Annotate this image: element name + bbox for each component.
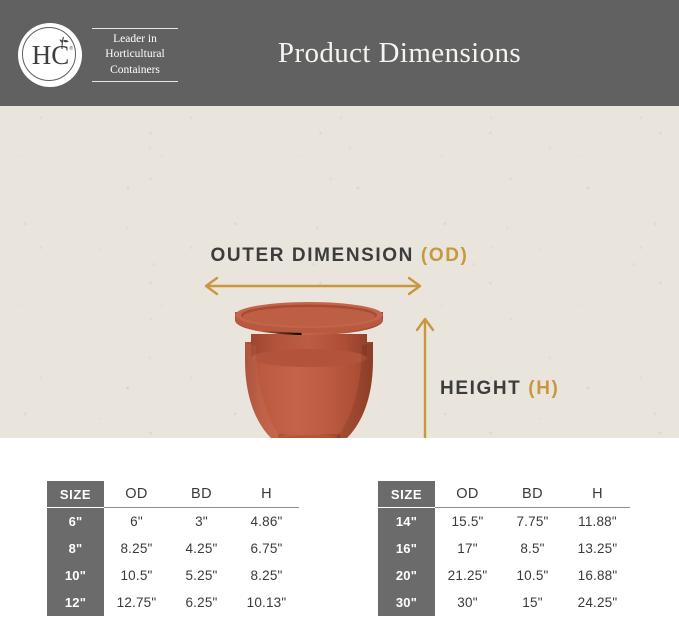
product-dimensions-infographic: HC ® Leader in Horticultural Containers … — [0, 0, 679, 636]
table-row: 30" 30" 15" 24.25" — [378, 589, 630, 616]
height-arrow-icon — [412, 311, 438, 438]
table-row: 12" 12.75" 6.25" 10.13" — [47, 589, 299, 616]
table-row: 16" 17" 8.5" 13.25" — [378, 535, 630, 562]
cell-size: 10" — [47, 562, 104, 589]
table-head: SIZE OD BD H — [378, 481, 630, 508]
cell-size: 30" — [378, 589, 435, 616]
outer-dimension-label: OUTER DIMENSION (OD) — [0, 245, 679, 267]
column-header-od: OD — [435, 481, 500, 508]
column-header-size: SIZE — [47, 481, 104, 508]
tagline-line-3: Containers — [92, 63, 178, 78]
column-header-h: H — [234, 481, 299, 508]
outer-dimension-arrow-icon — [198, 274, 428, 298]
cell-od: 30" — [435, 589, 500, 616]
cell-h: 11.88" — [565, 508, 630, 536]
table-row: 8" 8.25" 4.25" 6.75" — [47, 535, 299, 562]
cell-od: 15.5" — [435, 508, 500, 536]
diagram-panel: OUTER DIMENSION (OD) — [0, 106, 679, 438]
size-table: SIZE OD BD H 6" 6" 3" 4.86" 8" 8.25" 4.2… — [47, 481, 299, 616]
column-header-h: H — [565, 481, 630, 508]
cell-h: 24.25" — [565, 589, 630, 616]
cell-bd: 4.25" — [169, 535, 234, 562]
leaf-sprout-icon — [54, 36, 70, 50]
logo-circle-icon: HC ® — [18, 23, 82, 87]
size-table-small: SIZE OD BD H 6" 6" 3" 4.86" 8" 8.25" 4.2… — [47, 481, 299, 616]
table-header-row: SIZE OD BD H — [378, 481, 630, 508]
column-header-bd: BD — [169, 481, 234, 508]
cell-od: 6" — [104, 508, 169, 536]
column-header-bd: BD — [500, 481, 565, 508]
cell-size: 6" — [47, 508, 104, 536]
height-text: HEIGHT — [440, 378, 528, 399]
outer-dimension-abbr: (OD) — [421, 245, 469, 266]
table-row: 14" 15.5" 7.75" 11.88" — [378, 508, 630, 536]
height-label: HEIGHT (H) — [440, 378, 559, 400]
cell-h: 8.25" — [234, 562, 299, 589]
cell-bd: 8.5" — [500, 535, 565, 562]
cell-bd: 7.75" — [500, 508, 565, 536]
cell-bd: 10.5" — [500, 562, 565, 589]
cell-h: 4.86" — [234, 508, 299, 536]
header-bar: HC ® Leader in Horticultural Containers … — [0, 0, 679, 106]
brand-tagline: Leader in Horticultural Containers — [92, 28, 178, 82]
cell-od: 21.25" — [435, 562, 500, 589]
table-body: 6" 6" 3" 4.86" 8" 8.25" 4.25" 6.75" 10" … — [47, 508, 299, 617]
cell-h: 10.13" — [234, 589, 299, 616]
cell-size: 12" — [47, 589, 104, 616]
flower-pot-illustration — [226, 302, 392, 438]
column-header-od: OD — [104, 481, 169, 508]
cell-h: 6.75" — [234, 535, 299, 562]
table-row: 6" 6" 3" 4.86" — [47, 508, 299, 536]
cell-bd: 3" — [169, 508, 234, 536]
cell-size: 16" — [378, 535, 435, 562]
registered-mark: ® — [69, 46, 73, 52]
cell-bd: 6.25" — [169, 589, 234, 616]
cell-size: 8" — [47, 535, 104, 562]
table-row: 10" 10.5" 5.25" 8.25" — [47, 562, 299, 589]
outer-dimension-text: OUTER DIMENSION — [211, 245, 421, 266]
cell-od: 10.5" — [104, 562, 169, 589]
cell-h: 16.88" — [565, 562, 630, 589]
column-header-size: SIZE — [378, 481, 435, 508]
cell-bd: 15" — [500, 589, 565, 616]
cell-od: 12.75" — [104, 589, 169, 616]
size-table-large: SIZE OD BD H 14" 15.5" 7.75" 11.88" 16" … — [378, 481, 630, 616]
cell-od: 8.25" — [104, 535, 169, 562]
tagline-line-2: Horticultural — [92, 47, 178, 62]
table-head: SIZE OD BD H — [47, 481, 299, 508]
cell-od: 17" — [435, 535, 500, 562]
size-table: SIZE OD BD H 14" 15.5" 7.75" 11.88" 16" … — [378, 481, 630, 616]
cell-size: 20" — [378, 562, 435, 589]
cell-bd: 5.25" — [169, 562, 234, 589]
table-body: 14" 15.5" 7.75" 11.88" 16" 17" 8.5" 13.2… — [378, 508, 630, 617]
cell-size: 14" — [378, 508, 435, 536]
table-row: 20" 21.25" 10.5" 16.88" — [378, 562, 630, 589]
cell-h: 13.25" — [565, 535, 630, 562]
height-abbr: (H) — [528, 378, 559, 399]
tagline-line-1: Leader in — [92, 32, 178, 47]
table-header-row: SIZE OD BD H — [47, 481, 299, 508]
brand-logo: HC ® Leader in Horticultural Containers — [18, 22, 198, 88]
